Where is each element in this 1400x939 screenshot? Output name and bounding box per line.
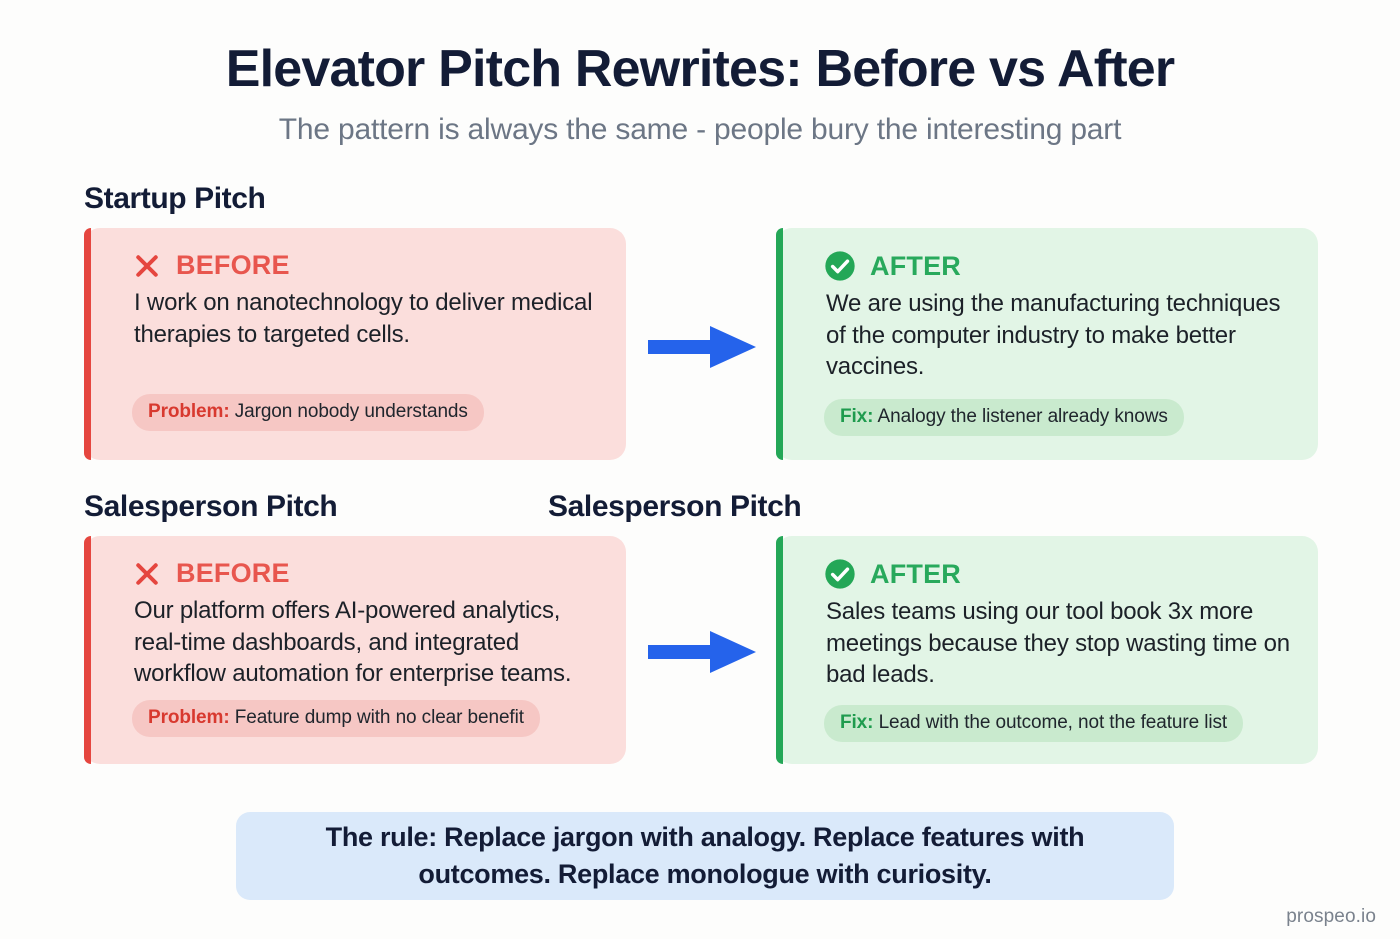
before-card: BEFORE Our platform offers AI-powered an… (84, 536, 626, 764)
fix-badge-key: Fix: (840, 406, 873, 427)
section-heading-left: Salesperson Pitch (84, 490, 337, 524)
page-subtitle: The pattern is always the same - people … (0, 113, 1400, 147)
after-card-header: AFTER (824, 558, 1292, 590)
problem-badge-value: Feature dump with no clear benefit (235, 707, 524, 728)
problem-badge: Problem: Jargon nobody understands (132, 394, 484, 431)
after-body-text: Sales teams using our tool book 3x more … (826, 596, 1292, 691)
before-card-header: BEFORE (132, 558, 600, 589)
before-label: BEFORE (176, 558, 290, 589)
section-heading-left: Startup Pitch (84, 182, 265, 216)
fix-badge-key: Fix: (840, 712, 873, 733)
card-accent-bar (84, 536, 91, 764)
site-credit: prospeo.io (1286, 906, 1376, 928)
before-label: BEFORE (176, 250, 290, 281)
arrow-right-icon (648, 629, 756, 675)
fix-badge: Fix: Lead with the outcome, not the feat… (824, 705, 1243, 742)
x-mark-icon (132, 251, 162, 281)
card-accent-bar (84, 228, 91, 460)
check-circle-icon (824, 558, 856, 590)
problem-badge-value: Jargon nobody understands (235, 401, 468, 422)
after-card: AFTER Sales teams using our tool book 3x… (776, 536, 1318, 764)
card-accent-bar (776, 536, 783, 764)
fix-badge-value: Analogy the listener already knows (878, 406, 1168, 427)
card-pair: BEFORE Our platform offers AI-powered an… (0, 536, 1400, 768)
problem-badge-key: Problem: (148, 401, 230, 422)
after-card-header: AFTER (824, 250, 1292, 282)
x-mark-icon (132, 559, 162, 589)
before-card-header: BEFORE (132, 250, 600, 281)
before-card: BEFORE I work on nanotechnology to deliv… (84, 228, 626, 460)
page-title: Elevator Pitch Rewrites: Before vs After (0, 42, 1400, 97)
page-header: Elevator Pitch Rewrites: Before vs After… (0, 0, 1400, 147)
check-circle-icon (824, 250, 856, 282)
fix-badge: Fix: Analogy the listener already knows (824, 399, 1184, 436)
before-body-text: I work on nanotechnology to deliver medi… (134, 287, 600, 350)
section-heading-right: Salesperson Pitch (548, 490, 801, 524)
rule-banner: The rule: Replace jargon with analogy. R… (236, 812, 1174, 900)
card-accent-bar (776, 228, 783, 460)
problem-badge-key: Problem: (148, 707, 230, 728)
card-pair: BEFORE I work on nanotechnology to deliv… (0, 228, 1400, 460)
problem-badge: Problem: Feature dump with no clear bene… (132, 700, 540, 737)
after-body-text: We are using the manufacturing technique… (826, 288, 1292, 383)
fix-badge-value: Lead with the outcome, not the feature l… (879, 712, 1227, 733)
after-label: AFTER (870, 251, 961, 282)
rule-banner-text: The rule: Replace jargon with analogy. R… (276, 819, 1134, 894)
after-card: AFTER We are using the manufacturing tec… (776, 228, 1318, 460)
before-body-text: Our platform offers AI-powered analytics… (134, 595, 600, 690)
arrow-right-icon (648, 324, 756, 370)
after-label: AFTER (870, 559, 961, 590)
